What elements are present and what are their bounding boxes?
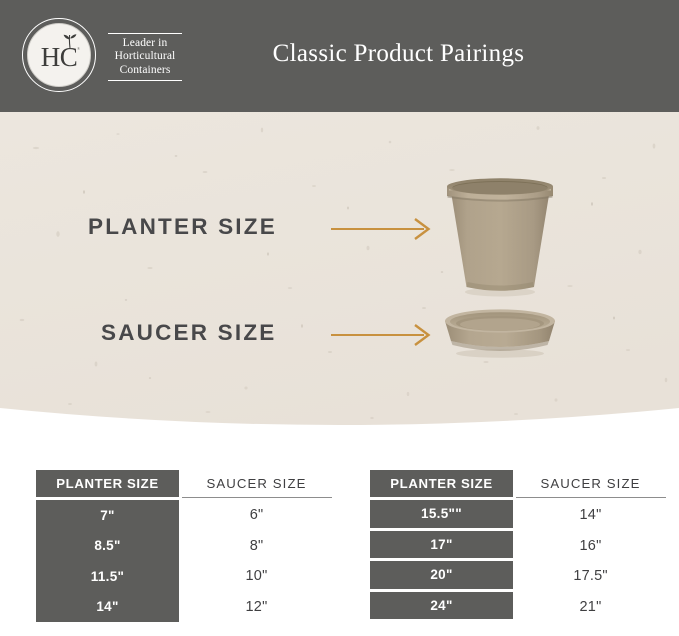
cream-textured-background bbox=[0, 112, 679, 442]
table-row: 17" bbox=[370, 531, 513, 559]
saucer-column: 14" 16" 17.5" 21" bbox=[513, 500, 668, 622]
page-title: Classic Product Pairings bbox=[0, 40, 679, 68]
planter-pot-illustration bbox=[437, 172, 563, 298]
table-row: 12" bbox=[179, 592, 334, 623]
table-row: 8" bbox=[179, 531, 334, 562]
planter-column: 7" 8.5" 11.5" 14" bbox=[36, 500, 179, 622]
saucer-dish-illustration bbox=[437, 301, 563, 363]
table-row: 14" bbox=[513, 500, 668, 531]
column-header-planter-size: PLANTER SIZE bbox=[370, 470, 513, 497]
table-row: 24" bbox=[370, 592, 513, 620]
header-bar: HC ® Leader in Horticultural Containers … bbox=[0, 0, 679, 112]
table-row: 14" bbox=[36, 592, 179, 623]
arrow-right-icon bbox=[330, 321, 436, 347]
table-body: 7" 8.5" 11.5" 14" 6" 8" 10" 12" bbox=[36, 500, 334, 622]
table-row: 20" bbox=[370, 561, 513, 589]
hero-panel: PLANTER SIZE SAUCER SIZE bbox=[0, 112, 679, 442]
table-row: 15.5"" bbox=[370, 500, 513, 528]
size-table-right: PLANTER SIZE SAUCER SIZE 15.5"" 17" 20" … bbox=[370, 470, 668, 622]
table-row: 10" bbox=[179, 561, 334, 592]
table-header-row: PLANTER SIZE SAUCER SIZE bbox=[370, 470, 668, 497]
column-header-saucer-size: SAUCER SIZE bbox=[513, 470, 668, 497]
table-row: 16" bbox=[513, 531, 668, 562]
size-table-left: PLANTER SIZE SAUCER SIZE 7" 8.5" 11.5" 1… bbox=[36, 470, 334, 622]
table-row: 17.5" bbox=[513, 561, 668, 592]
saucer-column: 6" 8" 10" 12" bbox=[179, 500, 334, 622]
planter-column: 15.5"" 17" 20" 24" bbox=[370, 500, 513, 622]
table-row: 11.5" bbox=[36, 561, 179, 592]
table-body: 15.5"" 17" 20" 24" 14" 16" 17.5" 21" bbox=[370, 500, 668, 622]
saucer-size-label: SAUCER SIZE bbox=[101, 320, 276, 346]
column-header-saucer-size: SAUCER SIZE bbox=[179, 470, 334, 497]
table-row: 8.5" bbox=[36, 531, 179, 562]
tables-region: PLANTER SIZE SAUCER SIZE 7" 8.5" 11.5" 1… bbox=[0, 470, 679, 636]
tagline-rule-bottom bbox=[108, 80, 182, 81]
column-header-planter-size: PLANTER SIZE bbox=[36, 470, 179, 497]
table-header-row: PLANTER SIZE SAUCER SIZE bbox=[36, 470, 334, 497]
table-row: 6" bbox=[179, 500, 334, 531]
table-row: 7" bbox=[36, 500, 179, 531]
arrow-right-icon bbox=[330, 215, 436, 241]
table-row: 21" bbox=[513, 592, 668, 623]
planter-size-label: PLANTER SIZE bbox=[88, 214, 277, 240]
